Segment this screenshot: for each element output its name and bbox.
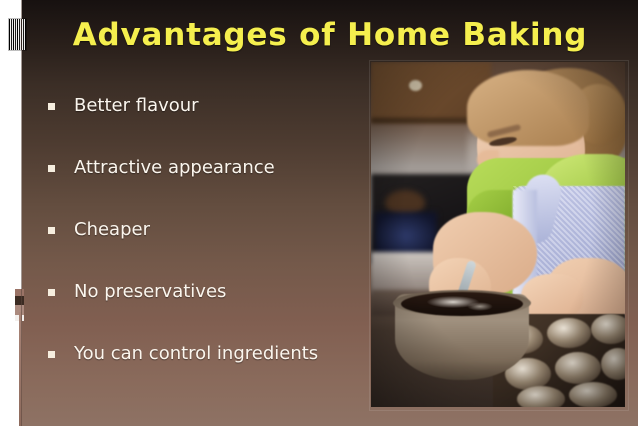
list-item-label: Better flavour [74,95,199,117]
photo-vignette [371,62,625,407]
baking-photo [371,62,625,407]
list-item: No preservatives [48,281,358,343]
list-item-label: You can control ingredients [74,343,318,365]
margin-divider [21,0,22,426]
list-item: You can control ingredients [48,343,358,405]
bullet-square-icon [48,289,55,296]
list-item-label: Cheaper [74,219,150,241]
list-item-label: No preservatives [74,281,226,303]
slide: Advantages of Home Baking Better flavour… [0,0,638,426]
slide-title: Advantages of Home Baking [22,12,638,58]
bullet-square-icon [48,227,55,234]
bullet-square-icon [48,351,55,358]
list-item-label: Attractive appearance [74,157,275,179]
page-title: Advantages of Home Baking [73,17,588,53]
bullet-square-icon [48,165,55,172]
list-item: Better flavour [48,95,358,157]
list-item: Cheaper [48,219,358,281]
bullet-list: Better flavour Attractive appearance Che… [48,95,358,405]
list-item: Attractive appearance [48,157,358,219]
film-strip-icon [9,19,26,50]
bullet-square-icon [48,103,55,110]
